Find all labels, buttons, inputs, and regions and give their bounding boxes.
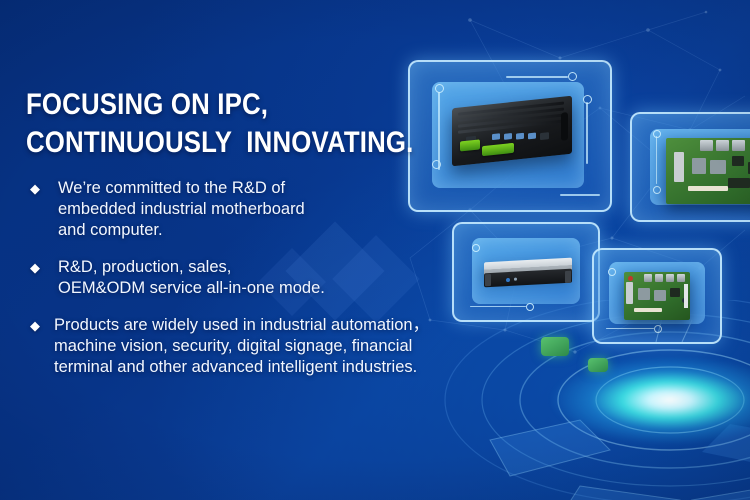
headline-line-1: FOCUSING ON IPC, [26, 88, 268, 121]
list-item: ◆ Products are widely used in industrial… [30, 315, 570, 378]
circuit-trace [586, 102, 588, 164]
circuit-trace [438, 92, 440, 170]
circuit-trace [506, 76, 568, 78]
list-item-label: Products are widely used in industrial a… [54, 315, 429, 378]
circuit-node-icon [435, 84, 444, 93]
circuit-node-icon [653, 186, 661, 194]
headline-line-2: CONTINUOUSLY INNOVATING. [26, 126, 414, 159]
circuit-node-icon [432, 160, 441, 169]
circuit-node-icon [654, 325, 662, 333]
list-item-label: R&D, production, sales, OEM&ODM service … [58, 257, 325, 299]
page-title: FOCUSING ON IPC, CONTINUOUSLY INNOVATING… [26, 86, 414, 162]
embedded-motherboard-image [624, 272, 690, 320]
industrial-motherboard-image [666, 138, 750, 204]
feature-bullet-list: ◆ We’re committed to the R&D of embedded… [30, 178, 570, 394]
diamond-bullet-icon: ◆ [30, 257, 58, 278]
ipc-promo-banner: FOCUSING ON IPC, CONTINUOUSLY INNOVATING… [0, 0, 750, 500]
circuit-node-icon [568, 72, 577, 81]
product-frame-embedded-motherboard [592, 248, 722, 344]
circuit-node-icon [608, 268, 616, 276]
circuit-node-icon [583, 95, 592, 104]
diamond-bullet-icon: ◆ [30, 178, 58, 199]
list-item-label: We’re committed to the R&D of embedded i… [58, 178, 305, 241]
green-accent-tile-2 [588, 358, 608, 372]
circuit-node-icon [653, 130, 661, 138]
list-item: ◆ We’re committed to the R&D of embedded… [30, 178, 570, 241]
list-item: ◆ R&D, production, sales, OEM&ODM servic… [30, 257, 570, 299]
product-frame-motherboard-top [630, 112, 750, 222]
circuit-trace [606, 328, 654, 329]
